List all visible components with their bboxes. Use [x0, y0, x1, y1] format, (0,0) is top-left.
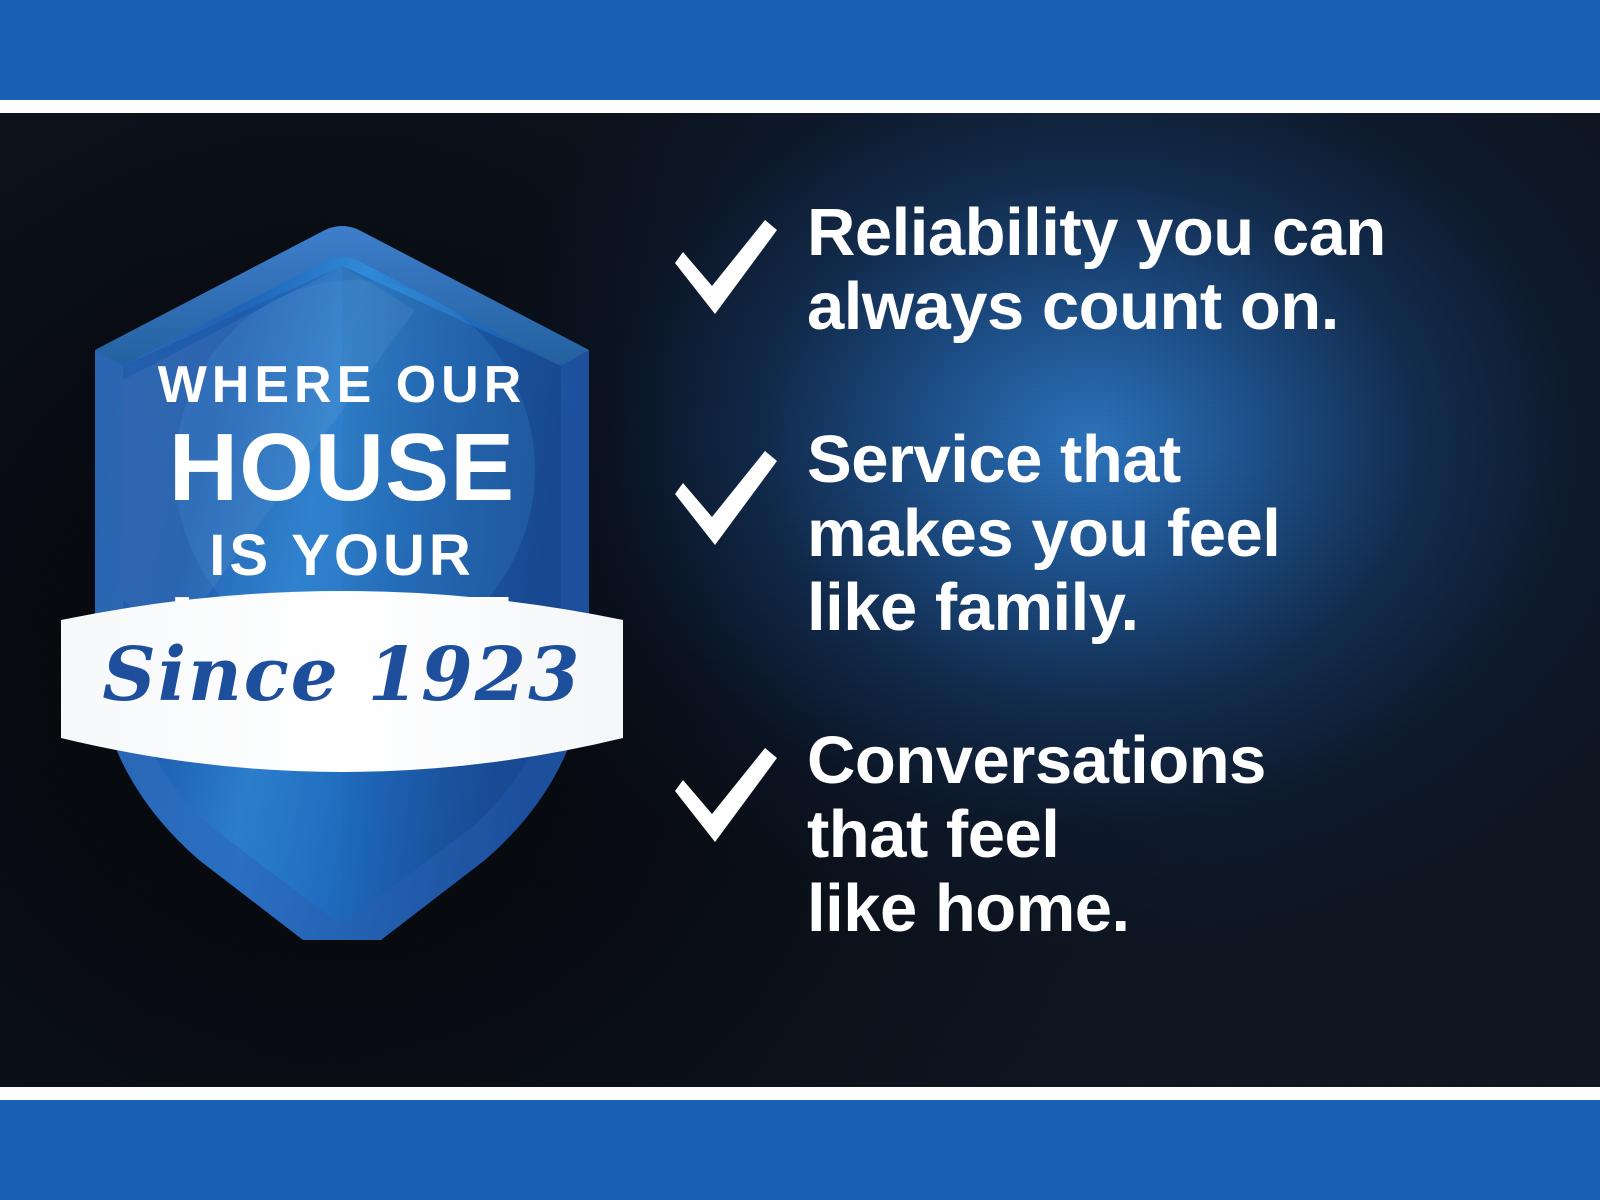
promo-poster: WHERE OUR HOUSE IS YOUR HOUSE Since 1923… [0, 0, 1600, 1200]
benefit-item-1: Reliability you can always count on. [665, 190, 1545, 343]
benefit-text-2: Service that makes you feel like family. [807, 417, 1280, 644]
top-brand-bar [0, 0, 1600, 100]
check-icon [665, 736, 785, 854]
bottom-brand-bar [0, 1100, 1600, 1200]
emblem-line-1: WHERE OUR [158, 356, 527, 414]
banner-text: Since 1923 [102, 632, 581, 718]
benefit-item-2: Service that makes you feel like family. [665, 417, 1545, 644]
benefit-item-3: Conversations that feel like home. [665, 718, 1545, 945]
benefit-text-1: Reliability you can always count on. [807, 190, 1386, 343]
benefits-list: Reliability you can always count on. Ser… [665, 190, 1545, 946]
check-icon [665, 208, 785, 326]
benefit-text-3: Conversations that feel like home. [807, 718, 1266, 945]
since-banner: Since 1923 [61, 591, 623, 772]
brand-emblem: WHERE OUR HOUSE IS YOUR HOUSE Since 1923 [55, 170, 630, 940]
check-icon [665, 439, 785, 557]
emblem-line-2: HOUSE [169, 414, 515, 521]
